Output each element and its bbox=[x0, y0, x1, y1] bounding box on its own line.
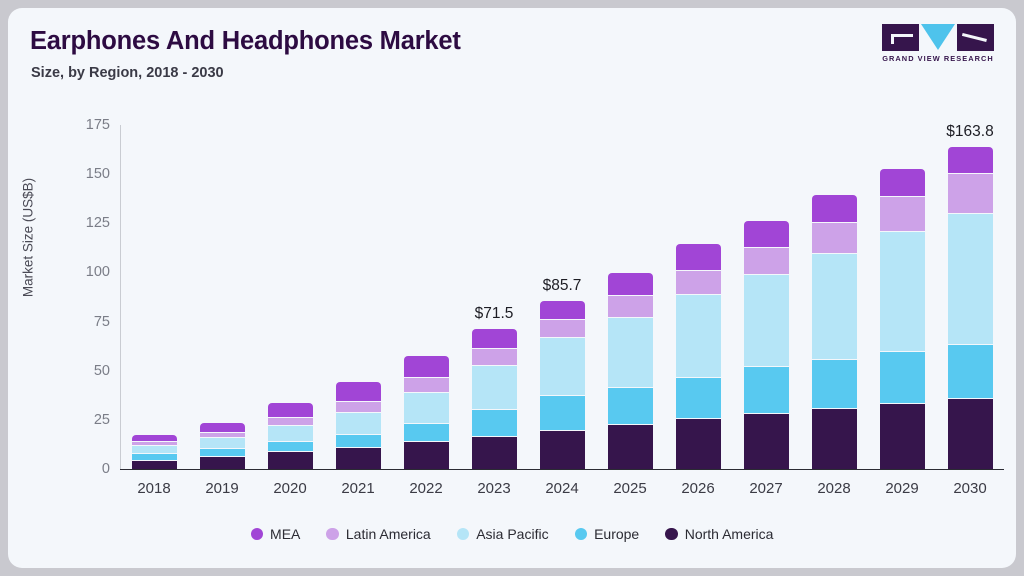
stacked-bar[interactable]: $85.7 bbox=[540, 301, 585, 469]
bar-segment-asia-pacific[interactable] bbox=[812, 253, 857, 359]
bar-segment-mea[interactable] bbox=[676, 244, 721, 270]
stacked-bar[interactable] bbox=[200, 423, 245, 469]
bar-segment-latin-america[interactable] bbox=[336, 401, 381, 412]
legend-dot-icon bbox=[575, 528, 588, 541]
x-axis-line bbox=[120, 469, 1004, 470]
legend-dot-icon bbox=[251, 528, 264, 541]
bar-segment-mea[interactable] bbox=[200, 423, 245, 432]
bar-segment-latin-america[interactable] bbox=[472, 348, 517, 365]
bar-segment-europe[interactable] bbox=[812, 359, 857, 408]
bar-segment-europe[interactable] bbox=[540, 395, 585, 430]
page-title: Earphones And Headphones Market bbox=[30, 27, 461, 56]
bar-column-2029[interactable] bbox=[868, 125, 936, 469]
stacked-bar[interactable] bbox=[132, 435, 177, 469]
stacked-bar[interactable] bbox=[812, 195, 857, 469]
bar-segment-europe[interactable] bbox=[744, 366, 789, 412]
bar-segment-asia-pacific[interactable] bbox=[472, 365, 517, 409]
y-axis-tick-label: 150 bbox=[56, 166, 110, 182]
bar-segment-europe[interactable] bbox=[948, 344, 993, 398]
y-axis-tick-label: 100 bbox=[56, 264, 110, 280]
bar-segment-asia-pacific[interactable] bbox=[948, 213, 993, 345]
bar-segment-mea[interactable] bbox=[608, 273, 653, 295]
bar-segment-mea[interactable] bbox=[812, 195, 857, 222]
y-axis-tick-label: 125 bbox=[56, 215, 110, 231]
x-axis-tick-label: 2026 bbox=[664, 480, 732, 506]
x-axis-tick-label: 2020 bbox=[256, 480, 324, 506]
legend-label: MEA bbox=[270, 526, 300, 542]
bar-segment-mea[interactable] bbox=[472, 329, 517, 348]
bar-total-label: $85.7 bbox=[543, 277, 582, 295]
chart-legend: MEALatin AmericaAsia PacificEuropeNorth … bbox=[8, 521, 1016, 547]
x-axis-tick-label: 2021 bbox=[324, 480, 392, 506]
bar-segment-europe[interactable] bbox=[676, 377, 721, 418]
x-axis-tick-label: 2024 bbox=[528, 480, 596, 506]
bar-segment-north-america[interactable] bbox=[744, 413, 789, 469]
bar-segment-north-america[interactable] bbox=[268, 451, 313, 469]
bar-segment-europe[interactable] bbox=[404, 423, 449, 441]
bar-segment-north-america[interactable] bbox=[472, 436, 517, 469]
bar-segment-latin-america[interactable] bbox=[744, 247, 789, 274]
bar-segment-europe[interactable] bbox=[132, 453, 177, 460]
bar-segment-asia-pacific[interactable] bbox=[540, 337, 585, 395]
legend-dot-icon bbox=[326, 528, 339, 541]
bar-segment-europe[interactable] bbox=[268, 441, 313, 451]
bar-segment-asia-pacific[interactable] bbox=[132, 445, 177, 453]
bar-segment-asia-pacific[interactable] bbox=[336, 412, 381, 434]
stacked-bar[interactable] bbox=[608, 273, 653, 469]
logo-wordmark: GRAND VIEW RESEARCH bbox=[882, 54, 994, 63]
bar-segment-asia-pacific[interactable] bbox=[608, 317, 653, 387]
x-axis-labels: 2018201920202021202220232024202520262027… bbox=[120, 480, 1004, 506]
bar-segment-latin-america[interactable] bbox=[676, 270, 721, 294]
x-axis-tick-label: 2019 bbox=[188, 480, 256, 506]
bar-column-2022[interactable] bbox=[392, 125, 460, 469]
bar-segment-asia-pacific[interactable] bbox=[200, 437, 245, 448]
bar-segment-north-america[interactable] bbox=[132, 460, 177, 469]
bar-column-2025[interactable] bbox=[596, 125, 664, 469]
bar-segment-europe[interactable] bbox=[200, 448, 245, 456]
stacked-bar[interactable] bbox=[744, 221, 789, 469]
bar-segment-latin-america[interactable] bbox=[268, 417, 313, 425]
legend-item-north-america[interactable]: North America bbox=[665, 526, 773, 542]
grand-view-research-logo: GRAND VIEW RESEARCH bbox=[882, 24, 994, 66]
bar-segment-north-america[interactable] bbox=[540, 430, 585, 469]
y-axis-tick-label: 50 bbox=[56, 363, 110, 379]
stacked-bar[interactable]: $163.8 bbox=[948, 147, 993, 469]
stacked-bar[interactable] bbox=[404, 356, 449, 469]
bar-segment-europe[interactable] bbox=[472, 409, 517, 437]
stacked-bar[interactable] bbox=[268, 403, 313, 469]
bar-segment-north-america[interactable] bbox=[404, 441, 449, 469]
x-axis-tick-label: 2028 bbox=[800, 480, 868, 506]
legend-label: Latin America bbox=[346, 526, 431, 542]
bar-series-area: $71.5$85.7$163.8 bbox=[120, 125, 1004, 469]
stacked-bar[interactable] bbox=[880, 169, 925, 469]
bar-column-2030[interactable]: $163.8 bbox=[936, 125, 1004, 469]
bar-segment-latin-america[interactable] bbox=[880, 196, 925, 231]
bar-column-2023[interactable]: $71.5 bbox=[460, 125, 528, 469]
bar-segment-latin-america[interactable] bbox=[404, 377, 449, 391]
logo-g-block-icon bbox=[882, 24, 919, 51]
bar-column-2018[interactable] bbox=[120, 125, 188, 469]
y-axis-title: Market Size (US$B) bbox=[21, 66, 36, 410]
bar-segment-north-america[interactable] bbox=[200, 456, 245, 469]
bar-segment-mea[interactable] bbox=[948, 147, 993, 173]
bar-segment-latin-america[interactable] bbox=[948, 173, 993, 212]
bar-segment-north-america[interactable] bbox=[336, 447, 381, 469]
y-axis-tick-label: 175 bbox=[56, 117, 110, 133]
bar-segment-mea[interactable] bbox=[404, 356, 449, 378]
legend-item-mea[interactable]: MEA bbox=[251, 526, 301, 542]
legend-dot-icon bbox=[457, 528, 470, 541]
bar-segment-europe[interactable] bbox=[608, 387, 653, 424]
bar-total-label: $163.8 bbox=[946, 123, 993, 141]
x-axis-tick-label: 2018 bbox=[120, 480, 188, 506]
bar-segment-asia-pacific[interactable] bbox=[268, 425, 313, 441]
legend-label: Asia Pacific bbox=[476, 526, 548, 542]
bar-total-label: $71.5 bbox=[475, 305, 514, 323]
stacked-bar[interactable] bbox=[336, 382, 381, 469]
bar-segment-north-america[interactable] bbox=[812, 408, 857, 469]
bar-segment-latin-america[interactable] bbox=[812, 222, 857, 253]
bar-column-2019[interactable] bbox=[188, 125, 256, 469]
y-axis-tick-label: 75 bbox=[56, 314, 110, 330]
x-axis-tick-label: 2022 bbox=[392, 480, 460, 506]
y-axis-ticks: 0255075100125150175 bbox=[46, 125, 110, 469]
bar-column-2027[interactable] bbox=[732, 125, 800, 469]
logo-triangle-icon bbox=[921, 24, 955, 50]
bar-segment-mea[interactable] bbox=[744, 221, 789, 247]
bar-segment-north-america[interactable] bbox=[880, 403, 925, 469]
bar-segment-mea[interactable] bbox=[268, 403, 313, 417]
bar-segment-asia-pacific[interactable] bbox=[744, 274, 789, 366]
bar-segment-north-america[interactable] bbox=[948, 398, 993, 469]
x-axis-tick-label: 2029 bbox=[868, 480, 936, 506]
legend-label: North America bbox=[685, 526, 774, 542]
bar-column-2026[interactable] bbox=[664, 125, 732, 469]
bar-segment-europe[interactable] bbox=[336, 434, 381, 447]
bar-segment-asia-pacific[interactable] bbox=[404, 392, 449, 424]
x-axis-tick-label: 2025 bbox=[596, 480, 664, 506]
bar-segment-north-america[interactable] bbox=[676, 418, 721, 469]
logo-marks bbox=[882, 24, 994, 51]
bar-column-2024[interactable]: $85.7 bbox=[528, 125, 596, 469]
bar-segment-latin-america[interactable] bbox=[540, 319, 585, 337]
bar-segment-north-america[interactable] bbox=[608, 424, 653, 469]
x-axis-tick-label: 2023 bbox=[460, 480, 528, 506]
stacked-bar[interactable] bbox=[676, 244, 721, 469]
stacked-bar[interactable]: $71.5 bbox=[472, 329, 517, 470]
bar-column-2020[interactable] bbox=[256, 125, 324, 469]
x-axis-tick-label: 2030 bbox=[936, 480, 1004, 506]
bar-segment-latin-america[interactable] bbox=[608, 295, 653, 316]
y-axis-tick-label: 0 bbox=[56, 461, 110, 477]
logo-r-block-icon bbox=[957, 24, 994, 51]
bar-column-2021[interactable] bbox=[324, 125, 392, 469]
legend-dot-icon bbox=[665, 528, 678, 541]
legend-label: Europe bbox=[594, 526, 639, 542]
bar-segment-mea[interactable] bbox=[336, 382, 381, 401]
legend-item-asia-pacific[interactable]: Asia Pacific bbox=[457, 526, 549, 542]
bar-segment-europe[interactable] bbox=[880, 351, 925, 403]
legend-item-europe[interactable]: Europe bbox=[575, 526, 640, 542]
x-axis-tick-label: 2027 bbox=[732, 480, 800, 506]
chart-subtitle: Size, by Region, 2018 - 2030 bbox=[31, 65, 224, 81]
bar-segment-mea[interactable] bbox=[880, 169, 925, 196]
bar-segment-asia-pacific[interactable] bbox=[880, 231, 925, 351]
bar-segment-asia-pacific[interactable] bbox=[676, 294, 721, 377]
legend-item-latin-america[interactable]: Latin America bbox=[326, 526, 430, 542]
bar-column-2028[interactable] bbox=[800, 125, 868, 469]
chart-card: Earphones And Headphones Market Size, by… bbox=[8, 8, 1016, 568]
y-axis-tick-label: 25 bbox=[56, 412, 110, 428]
bar-segment-mea[interactable] bbox=[540, 301, 585, 319]
